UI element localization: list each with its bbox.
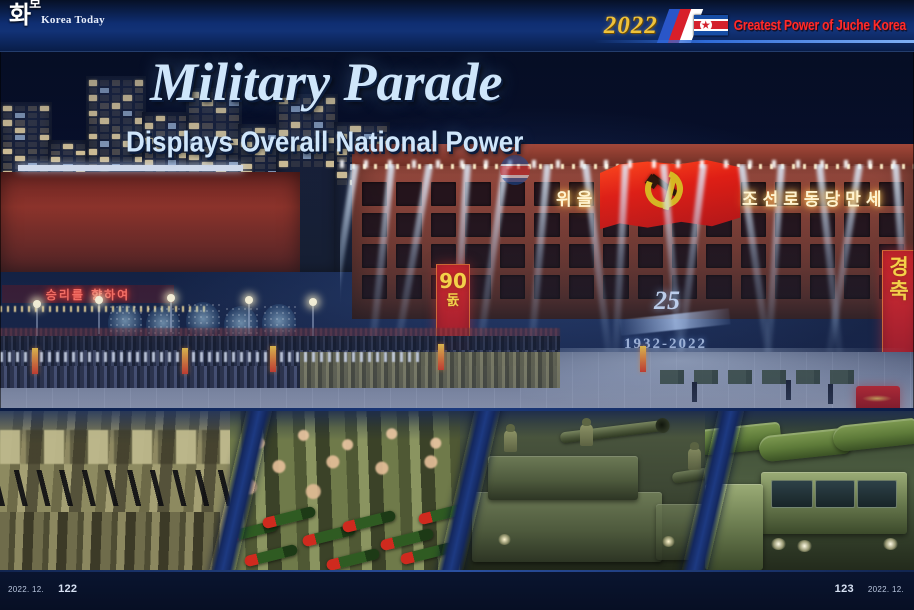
officer-figure <box>786 380 791 400</box>
truck-side-window <box>857 480 897 508</box>
logo-korean-text: 화보 <box>9 3 41 27</box>
red-lit-building <box>0 172 300 272</box>
footer-right: 123 2022. 12. <box>835 583 904 595</box>
banner-char-chuk: 축 <box>889 281 908 302</box>
street-lamp <box>170 298 172 332</box>
white-helmet-rank <box>0 352 420 362</box>
footer-left-date: 2022. 12. <box>8 585 44 594</box>
artillery-hull <box>472 492 662 562</box>
truck-headlight <box>883 538 898 550</box>
soldier-faces <box>230 426 475 504</box>
footer-right-page-number: 123 <box>835 583 854 595</box>
vehicle-headlight <box>498 534 511 545</box>
dprk-flag-icon <box>694 15 728 36</box>
flag-bearer <box>438 344 444 370</box>
photo-strip <box>0 408 914 570</box>
logo-english-text: Korea Today <box>41 14 105 27</box>
review-rostrum <box>856 386 900 408</box>
footer-left: 2022. 12. 122 <box>8 583 77 595</box>
banner-90-sub: 돐 <box>447 294 460 308</box>
soldier-helmet-row <box>0 430 242 464</box>
truck-side-window <box>815 480 855 508</box>
truck-headlight <box>771 538 786 550</box>
photo-self-propelled-artillery <box>460 408 718 570</box>
officer-figure <box>692 382 697 402</box>
footer-left-page-number: 122 <box>58 583 77 595</box>
publication-logo[interactable]: 화보 Korea Today <box>9 3 105 27</box>
rooftop-slogan-korean: 조선로동당만세 <box>742 192 881 209</box>
officer-figure <box>828 384 833 404</box>
truck-headlight <box>797 540 812 552</box>
tank-crew-member <box>580 424 593 446</box>
masthead: 화보 Korea Today 2022 Greatest Power of Ju… <box>0 0 914 52</box>
flag-bearer <box>32 348 38 374</box>
truck-windshield <box>771 480 813 508</box>
flag-bearer <box>640 346 646 372</box>
tank-crew-member <box>688 448 701 470</box>
masthead-tagline: Greatest Power of Juche Korea <box>734 16 914 34</box>
vehicle-headlight <box>662 536 675 547</box>
anniversary-number: 25 <box>654 286 680 316</box>
page-footer: 2022. 12. 122 123 2022. 12. <box>0 570 914 610</box>
tank-crew-member <box>504 430 517 452</box>
rpg-launcher-row <box>230 500 475 570</box>
rifle-row <box>0 470 242 506</box>
flag-bearer <box>182 348 188 374</box>
footer-right-date: 2022. 12. <box>868 585 904 594</box>
page-title: Military Parade <box>150 55 502 109</box>
marching-legs <box>0 512 242 570</box>
magazine-spread-page: 화보 Korea Today 2022 Greatest Power of Ju… <box>0 0 914 610</box>
rooftop-slogan-left: 위을 <box>556 192 592 209</box>
banner-char-gyeong: 경 <box>889 257 908 278</box>
flag-bearer <box>270 346 276 372</box>
page-subtitle: Displays Overall National Power <box>126 127 523 156</box>
photo-marching-infantry-with-rifles <box>0 408 242 570</box>
masthead-banner: 2022 Greatest Power of Juche Korea <box>604 11 914 39</box>
masthead-underline <box>594 40 914 43</box>
issue-year: 2022 <box>604 13 658 38</box>
banner-90-number: 90 <box>439 271 467 291</box>
dprk-flag-roundel-icon <box>500 155 530 185</box>
vehicle-line <box>660 370 860 384</box>
strip-top-edge <box>0 408 914 411</box>
building-roof-light-bar <box>18 165 243 171</box>
artillery-turret <box>488 456 638 500</box>
anniversary-emblem: 25 1932-2022 <box>620 284 730 346</box>
neon-korean-sign: 승리를 향하여 <box>2 285 174 303</box>
